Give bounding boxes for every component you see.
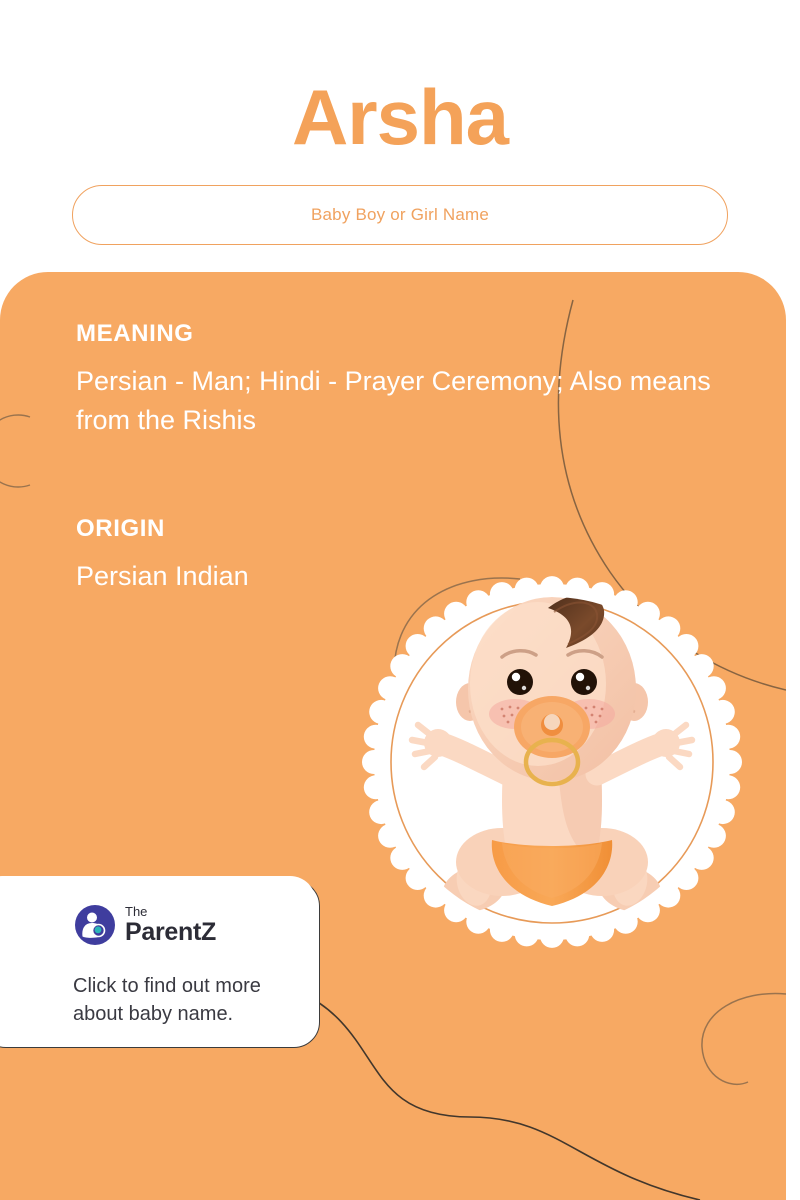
brand-wordmark: The ParentZ bbox=[125, 905, 216, 945]
meaning-value: Persian - Man; Hindi - Prayer Ceremony; … bbox=[76, 362, 736, 440]
page-title: Arsha bbox=[0, 78, 800, 156]
brand-logo: The ParentZ bbox=[75, 905, 216, 945]
parentz-logo-icon bbox=[75, 905, 115, 945]
brand-parentz: ParentZ bbox=[125, 920, 216, 945]
search-input[interactable]: Baby Boy or Girl Name bbox=[72, 185, 728, 245]
name-info-card: MEANING Persian - Man; Hindi - Prayer Ce… bbox=[0, 272, 786, 1200]
cta-text: Click to find out more about baby name. bbox=[73, 972, 313, 1029]
search-input-placeholder: Baby Boy or Girl Name bbox=[311, 205, 489, 225]
meaning-label: MEANING bbox=[76, 320, 194, 348]
origin-label: ORIGIN bbox=[76, 515, 165, 543]
baby-illustration bbox=[352, 562, 752, 962]
brand-the: The bbox=[125, 905, 216, 918]
